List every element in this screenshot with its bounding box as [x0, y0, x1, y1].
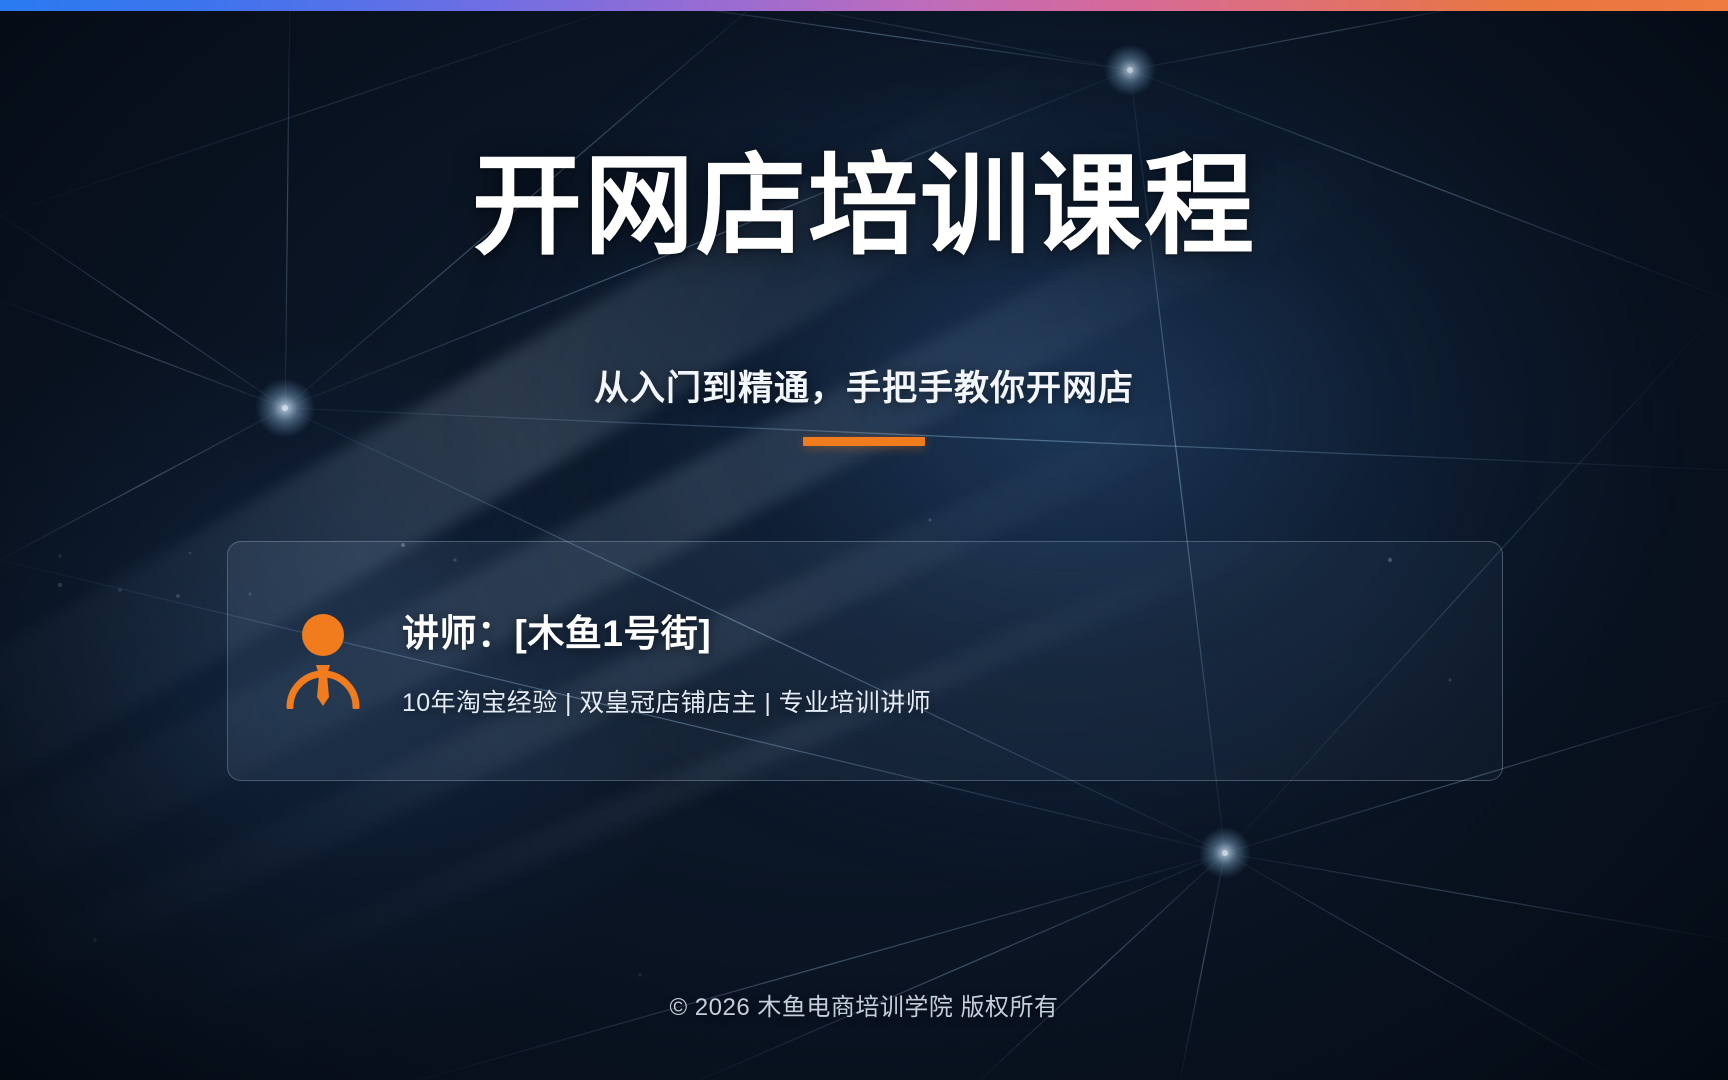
instructor-details: 讲师：[木鱼1号街] 10年淘宝经验 | 双皇冠店铺店主 | 专业培训讲师	[402, 603, 931, 719]
copyright-footer: © 2026 木鱼电商培训学院 版权所有	[0, 987, 1728, 1022]
presentation-slide: 开网店培训课程 从入门到精通，手把手教你开网店 讲师：[木鱼1号街] 10年淘宝…	[0, 0, 1728, 1080]
instructor-credentials: 10年淘宝经验 | 双皇冠店铺店主 | 专业培训讲师	[402, 683, 931, 719]
instructor-name: 讲师：[木鱼1号街]	[402, 603, 931, 657]
instructor-card: 讲师：[木鱼1号街] 10年淘宝经验 | 双皇冠店铺店主 | 专业培训讲师	[227, 541, 1503, 781]
top-accent-bar	[0, 0, 1728, 11]
orange-divider	[803, 437, 925, 446]
slide-content: 开网店培训课程 从入门到精通，手把手教你开网店 讲师：[木鱼1号街] 10年淘宝…	[0, 0, 1728, 1080]
user-tie-icon	[284, 613, 362, 709]
slide-subtitle: 从入门到精通，手把手教你开网店	[0, 360, 1728, 411]
slide-title: 开网店培训课程	[0, 148, 1728, 267]
